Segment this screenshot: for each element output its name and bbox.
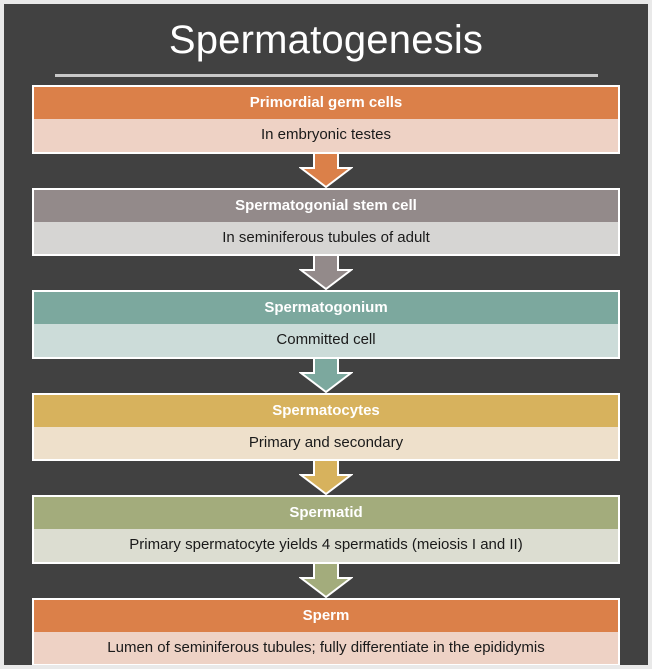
flow-connector (4, 461, 648, 495)
flow-connector (4, 359, 648, 393)
down-arrow-icon (299, 562, 353, 598)
page-title: Spermatogenesis (4, 4, 648, 62)
flow-node-header: Spermatogonial stem cell (34, 190, 618, 222)
flow-node-header: Spermatogonium (34, 292, 618, 324)
flow-connector (4, 256, 648, 290)
flow-node: Spermatogonial stem cellIn seminiferous … (32, 188, 620, 257)
title-divider (55, 74, 598, 77)
flowchart: Primordial germ cellsIn embryonic testes… (4, 85, 648, 666)
down-arrow-icon (299, 459, 353, 495)
flow-node-header: Spermatid (34, 497, 618, 529)
flow-node-body: Primary and secondary (34, 427, 618, 459)
flow-node-header: Spermatocytes (34, 395, 618, 427)
down-arrow-icon (299, 152, 353, 188)
flow-node-body: Primary spermatocyte yields 4 spermatids… (34, 529, 618, 561)
flow-node-header: Primordial germ cells (34, 87, 618, 119)
down-arrow-icon (299, 357, 353, 393)
flow-node-header: Sperm (34, 600, 618, 632)
flow-node-body: In embryonic testes (34, 119, 618, 151)
flow-node: SpermatogoniumCommitted cell (32, 290, 620, 359)
flow-node-body: Lumen of seminiferous tubules; fully dif… (34, 632, 618, 664)
flow-node: Primordial germ cellsIn embryonic testes (32, 85, 620, 154)
flow-connector (4, 154, 648, 188)
slide-canvas: Spermatogenesis Primordial germ cellsIn … (0, 0, 652, 669)
flow-node-body: Committed cell (34, 324, 618, 356)
flow-node: SpermatidPrimary spermatocyte yields 4 s… (32, 495, 620, 564)
down-arrow-icon (299, 254, 353, 290)
flow-connector (4, 564, 648, 598)
flow-node-body: In seminiferous tubules of adult (34, 222, 618, 254)
flow-node: SpermatocytesPrimary and secondary (32, 393, 620, 462)
flow-node: SpermLumen of seminiferous tubules; full… (32, 598, 620, 667)
